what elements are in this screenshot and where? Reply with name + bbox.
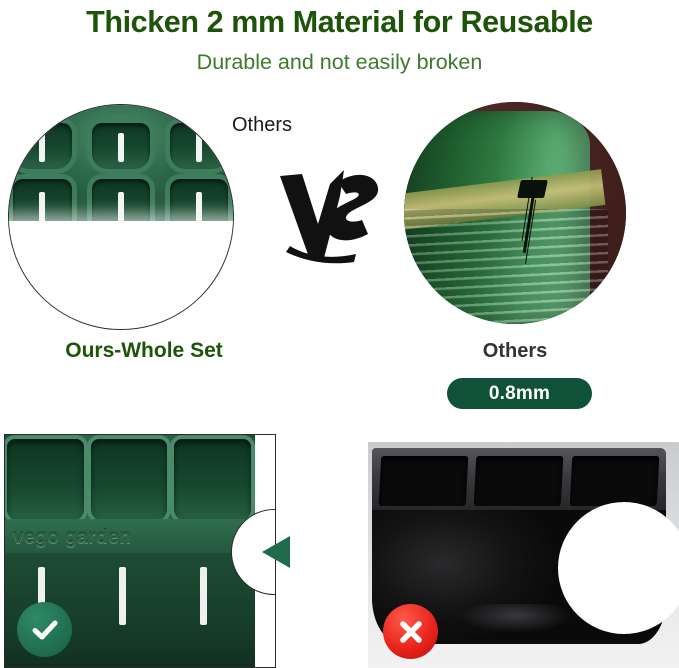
ours-label: Ours-Whole Set	[0, 338, 288, 364]
green-tray-illustration	[9, 105, 233, 329]
tray-cell	[13, 179, 71, 237]
tray-cell-row-front	[13, 179, 228, 237]
brand-emboss-label: vego garden	[13, 527, 131, 549]
tray-cell	[170, 123, 228, 169]
tray-cell	[92, 179, 150, 237]
tray-skirt	[18, 244, 224, 302]
tray-cell-row-back	[13, 123, 228, 169]
tray-cell	[92, 123, 150, 169]
others-label: Others	[396, 338, 634, 364]
header: Thicken 2 mm Material for Reusable Durab…	[0, 0, 679, 92]
page-subtitle: Durable and not easily broken	[0, 40, 679, 75]
tray-pocket	[569, 456, 659, 506]
tray-cell	[91, 439, 168, 521]
x-icon	[394, 615, 428, 649]
versus-icon	[272, 162, 384, 266]
pointer-arrow-icon	[262, 536, 290, 568]
others-thickness-badge: 0.8mm	[447, 378, 592, 409]
cracked-pot-illustration	[404, 102, 626, 324]
top-comparison-row	[0, 96, 679, 416]
tray-cell	[170, 179, 228, 237]
others-callout-cutout	[558, 502, 679, 634]
page-title: Thicken 2 mm Material for Reusable	[0, 0, 679, 40]
fail-status-badge	[383, 604, 438, 659]
tray-cell	[13, 123, 71, 169]
tray-deformation	[460, 604, 572, 633]
others-callout-label: Others	[232, 112, 342, 138]
tray-cell	[174, 439, 251, 521]
tray-pocket	[474, 456, 564, 506]
check-icon	[28, 613, 62, 647]
pot-ribs	[404, 209, 608, 324]
pass-status-badge	[17, 602, 72, 657]
others-pot-photo	[404, 102, 626, 324]
tray-cell	[7, 439, 84, 521]
tray-pocket	[379, 456, 469, 506]
ours-tray-photo	[8, 104, 234, 330]
tray-cells-closeup	[4, 435, 255, 521]
